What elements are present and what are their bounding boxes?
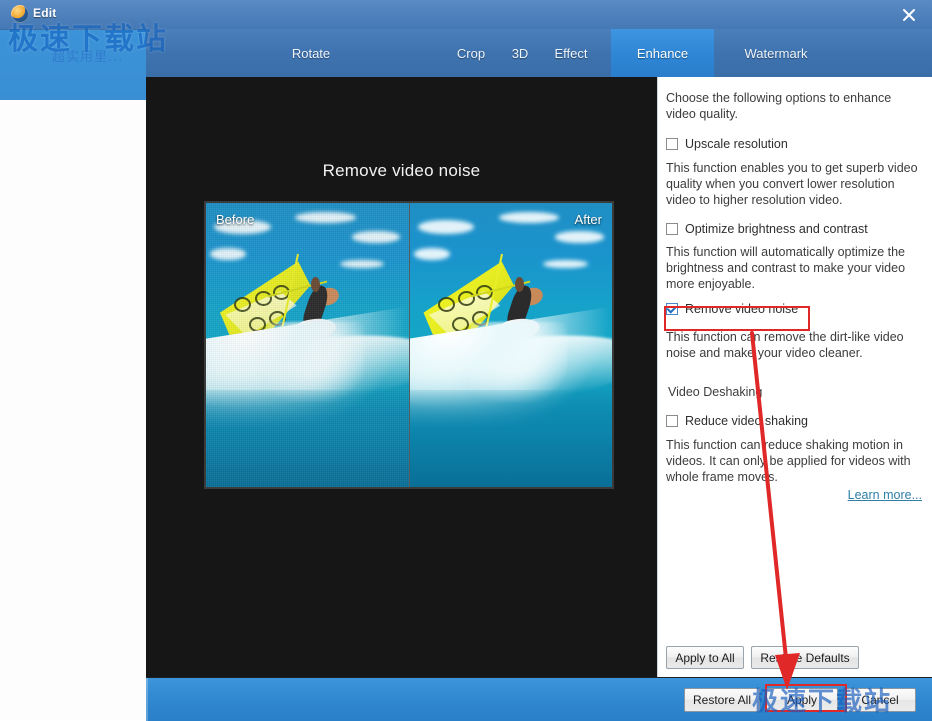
after-image: After [409,203,613,487]
bottom-bar: Restore All Apply Cancel [146,677,932,721]
restore-defaults-button[interactable]: Restore Defaults [751,646,859,669]
checkbox-box[interactable] [666,303,678,315]
optimize-description: This function will automatically optimiz… [666,244,924,292]
deshake-description: This function can reduce shaking motion … [666,437,924,485]
apply-to-all-button[interactable]: Apply to All [666,646,744,669]
checkbox-remove-video-noise[interactable]: Remove video noise [666,302,798,316]
checkbox-optimize-brightness-contrast[interactable]: Optimize brightness and contrast [666,222,868,236]
lower-water [206,390,409,487]
tab-enhance[interactable]: Enhance [611,29,714,77]
app-icon [11,5,29,23]
title-bar: Edit [0,0,932,30]
checkbox-reduce-video-shaking[interactable]: Reduce video shaking [666,414,808,428]
preview-title: Remove video noise [146,161,657,181]
tab-watermark[interactable]: Watermark [716,29,836,77]
denoise-description: This function can remove the dirt-like v… [666,329,924,361]
before-after-frame: Before [204,201,614,489]
checkbox-label: Upscale resolution [685,137,788,151]
checkbox-label: Optimize brightness and contrast [685,222,868,236]
tab-effect[interactable]: Effect [516,29,626,77]
checkbox-box[interactable] [666,223,678,235]
upscale-description: This function enables you to get superb … [666,160,924,208]
checkbox-label: Reduce video shaking [685,414,808,428]
surfer-head [515,277,524,293]
tab-crop[interactable]: Crop [416,29,526,77]
checkbox-box[interactable] [666,138,678,150]
bottom-bar-edge [146,678,148,721]
options-pane: Choose the following options to enhance … [657,77,932,677]
dialog-body: Remove video noise [146,77,932,677]
restore-all-button[interactable]: Restore All [684,688,760,712]
checkbox-label: Remove video noise [685,302,798,316]
background-page-banner [0,28,146,100]
cancel-button[interactable]: Cancel [844,688,916,712]
preview-pane: Remove video noise [146,77,657,677]
close-icon[interactable] [886,0,932,29]
before-scene [206,203,409,487]
before-image: Before [206,203,409,487]
window-title: Edit [33,6,56,20]
options-intro: Choose the following options to enhance … [666,90,924,122]
after-scene [410,203,613,487]
checkbox-upscale-resolution[interactable]: Upscale resolution [666,137,788,151]
edit-dialog: Edit Rotate 3D Crop Effect Enhance Water… [0,0,932,720]
learn-more-link[interactable]: Learn more... [848,488,922,502]
background-page [0,28,147,720]
after-label: After [575,212,602,227]
apply-button[interactable]: Apply [766,688,838,712]
before-label: Before [216,212,254,227]
checkbox-box[interactable] [666,415,678,427]
lower-water [410,390,613,487]
tab-bar: Rotate 3D Crop Effect Enhance Watermark [146,29,932,78]
tab-rotate[interactable]: Rotate [256,29,366,77]
video-deshaking-group-label: Video Deshaking [668,385,762,399]
